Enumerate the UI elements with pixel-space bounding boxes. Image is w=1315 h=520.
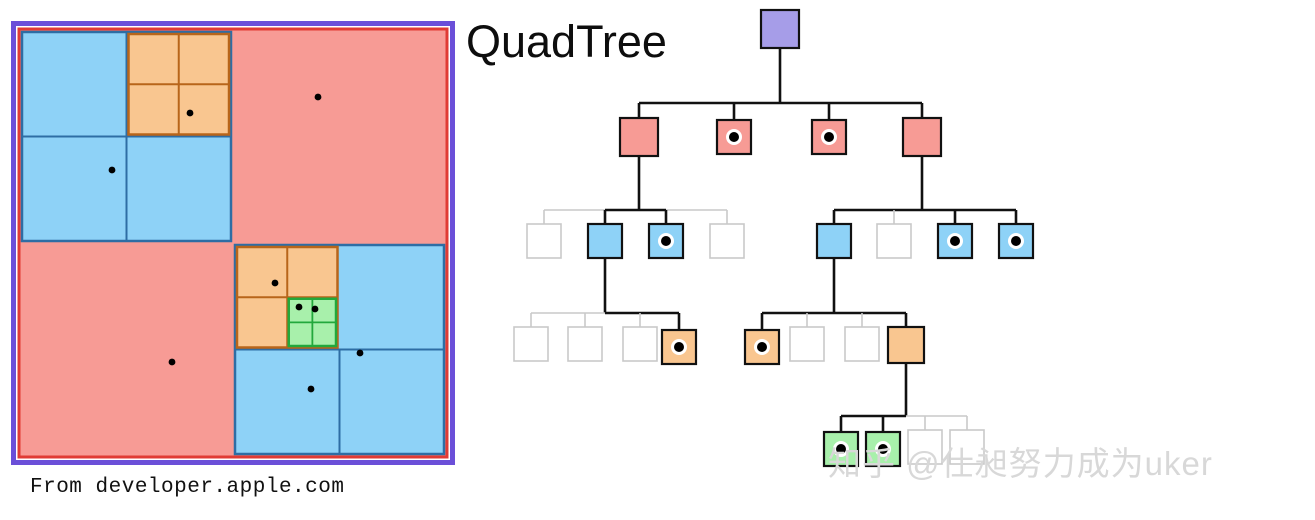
spatial-point: [357, 350, 364, 357]
node-box[interactable]: [623, 327, 657, 361]
tree-node[interactable]: [717, 120, 751, 154]
node-box[interactable]: [824, 432, 858, 466]
spatial-point: [308, 386, 315, 393]
node-box[interactable]: [817, 224, 851, 258]
node-box[interactable]: [649, 224, 683, 258]
node-dot-halo: [833, 441, 849, 457]
tree-node[interactable]: [845, 327, 879, 361]
node-box[interactable]: [790, 327, 824, 361]
node-box[interactable]: [620, 118, 658, 156]
node-box[interactable]: [761, 10, 799, 48]
tree-node[interactable]: [623, 327, 657, 361]
tree-nodes: [514, 10, 1033, 466]
node-box[interactable]: [866, 432, 900, 466]
tree-node[interactable]: [761, 10, 799, 48]
node-box[interactable]: [514, 327, 548, 361]
node-point-dot: [836, 444, 846, 454]
node-dot-halo: [821, 129, 837, 145]
node-box[interactable]: [588, 224, 622, 258]
node-point-dot: [674, 342, 684, 352]
quadtree-figure: QuadTree From developer.apple.com 知乎 @仕昶…: [0, 0, 1315, 520]
source-caption: From developer.apple.com: [30, 476, 344, 499]
node-box[interactable]: [888, 327, 924, 363]
tree-node[interactable]: [710, 224, 744, 258]
spatial-point: [187, 110, 194, 117]
tree-node[interactable]: [877, 224, 911, 258]
node-dot-halo: [726, 129, 742, 145]
node-box[interactable]: [710, 224, 744, 258]
watermark-text: 知乎 @仕昶努力成为uker: [828, 437, 1213, 485]
node-dot-halo: [671, 339, 687, 355]
node-box[interactable]: [662, 330, 696, 364]
node-box[interactable]: [908, 430, 942, 464]
node-point-dot: [1011, 236, 1021, 246]
node-dot-halo: [875, 441, 891, 457]
node-point-dot: [878, 444, 888, 454]
tree-node[interactable]: [888, 327, 924, 363]
tree-node[interactable]: [568, 327, 602, 361]
tree-node[interactable]: [938, 224, 972, 258]
tree-node[interactable]: [812, 120, 846, 154]
node-dot-halo: [754, 339, 770, 355]
tree-node[interactable]: [908, 430, 942, 464]
node-point-dot: [950, 236, 960, 246]
node-box[interactable]: [950, 430, 984, 464]
node-box[interactable]: [903, 118, 941, 156]
node-box[interactable]: [845, 327, 879, 361]
tree-node[interactable]: [649, 224, 683, 258]
tree-node[interactable]: [999, 224, 1033, 258]
spatial-point: [312, 306, 319, 313]
tree-node[interactable]: [824, 432, 858, 466]
node-box[interactable]: [938, 224, 972, 258]
node-point-dot: [824, 132, 834, 142]
quadtree-subdivision-diagram: [0, 0, 470, 470]
tree-node[interactable]: [514, 327, 548, 361]
spatial-point: [315, 94, 322, 101]
tree-node[interactable]: [620, 118, 658, 156]
spatial-point: [169, 359, 176, 366]
tree-node[interactable]: [745, 330, 779, 364]
node-box[interactable]: [877, 224, 911, 258]
tree-node[interactable]: [866, 432, 900, 466]
node-box[interactable]: [527, 224, 561, 258]
tree-node[interactable]: [950, 430, 984, 464]
node-point-dot: [661, 236, 671, 246]
node-box[interactable]: [999, 224, 1033, 258]
tree-node[interactable]: [817, 224, 851, 258]
tree-node[interactable]: [662, 330, 696, 364]
node-dot-halo: [658, 233, 674, 249]
node-box[interactable]: [745, 330, 779, 364]
spatial-point: [109, 167, 116, 174]
node-point-dot: [757, 342, 767, 352]
tree-node[interactable]: [790, 327, 824, 361]
tree-links: [531, 48, 1016, 432]
node-dot-halo: [1008, 233, 1024, 249]
node-box[interactable]: [812, 120, 846, 154]
node-dot-halo: [947, 233, 963, 249]
node-box[interactable]: [717, 120, 751, 154]
page-title: QuadTree: [466, 16, 667, 68]
node-box[interactable]: [568, 327, 602, 361]
spatial-point: [272, 280, 279, 287]
tree-node[interactable]: [903, 118, 941, 156]
tree-node[interactable]: [588, 224, 622, 258]
spatial-point: [296, 304, 303, 311]
tree-node[interactable]: [527, 224, 561, 258]
node-point-dot: [729, 132, 739, 142]
